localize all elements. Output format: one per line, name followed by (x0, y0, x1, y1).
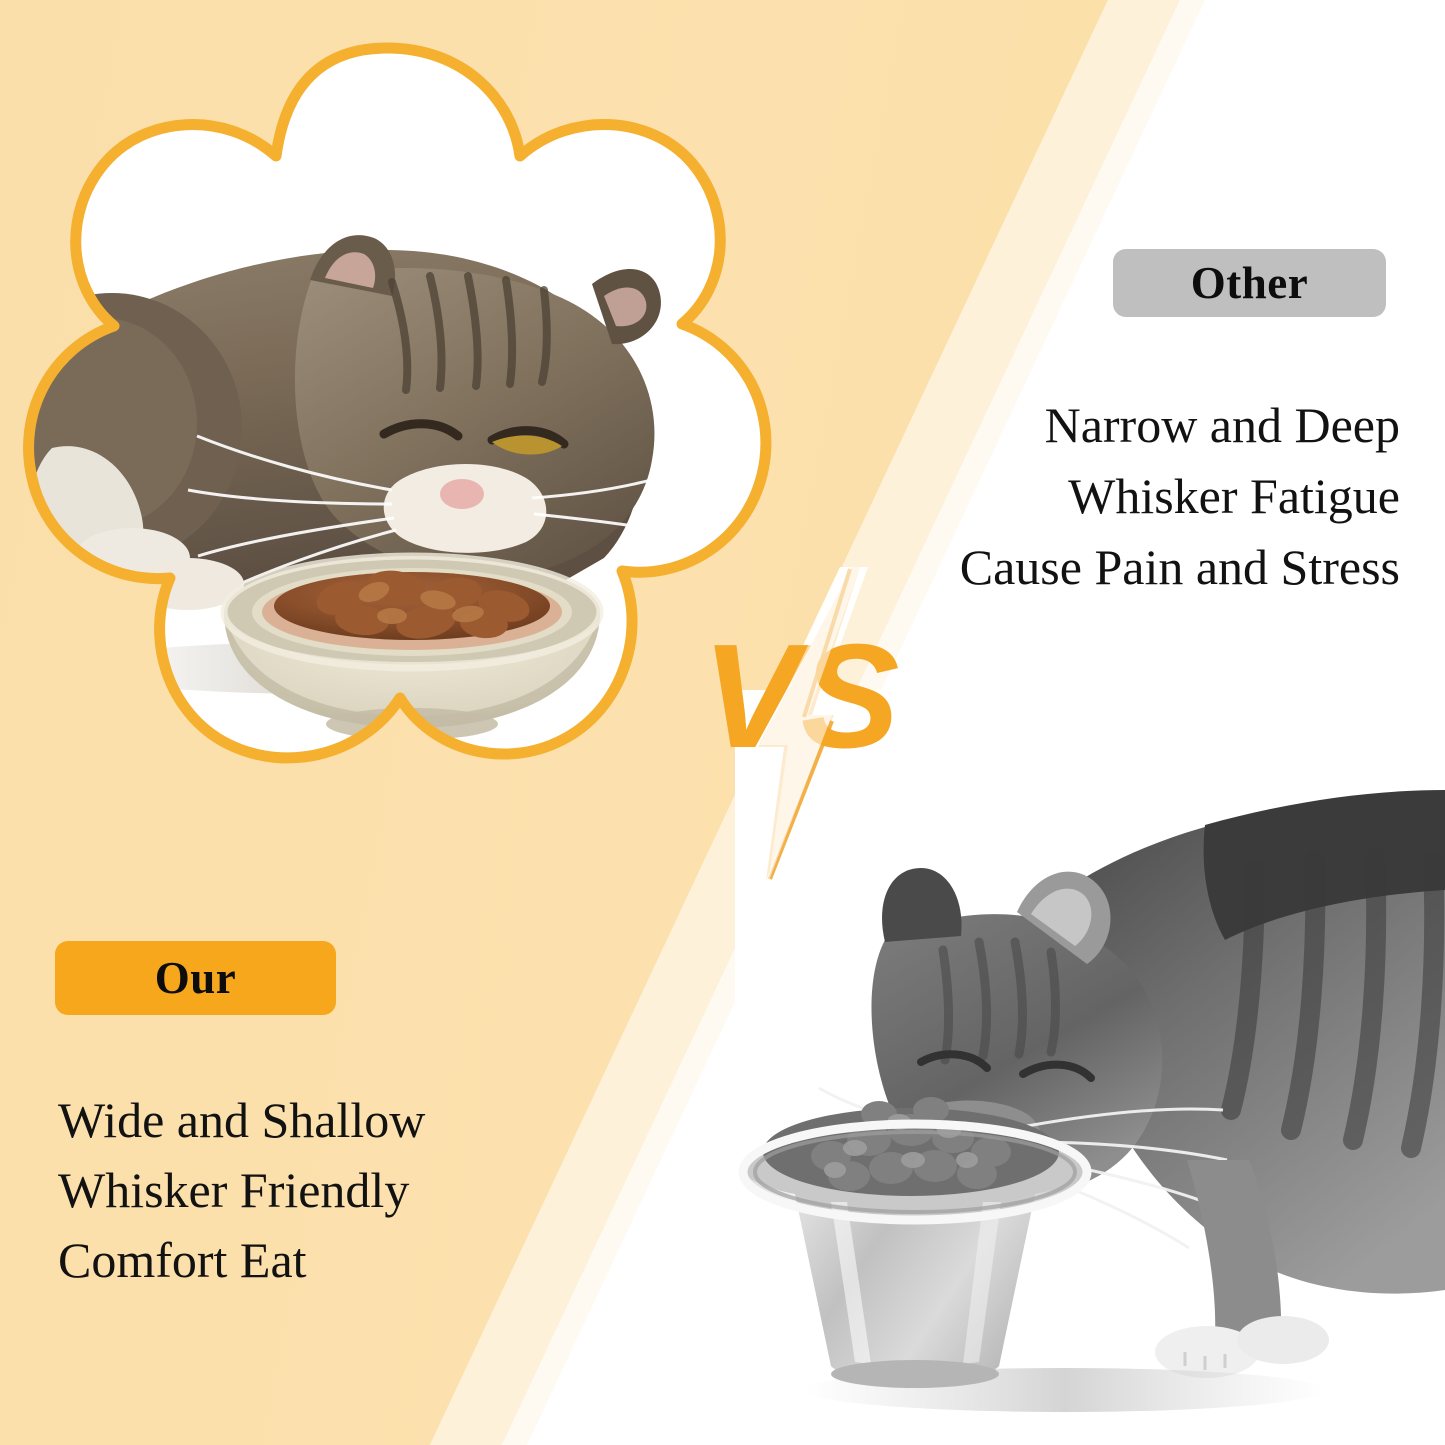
vs-divider: VS (700, 595, 930, 855)
our-badge-label: Our (155, 952, 237, 1004)
other-feature-3: Cause Pain and Stress (960, 532, 1400, 603)
comparison-infographic: VS Other Our Narrow and Deep Whisker Fat… (0, 0, 1445, 1445)
other-badge-label: Other (1191, 257, 1308, 309)
our-photo-flower-frame (0, 28, 782, 838)
other-feature-1: Narrow and Deep (960, 390, 1400, 461)
our-badge: Our (55, 941, 336, 1015)
other-feature-list: Narrow and Deep Whisker Fatigue Cause Pa… (960, 390, 1400, 603)
our-feature-3: Comfort Eat (58, 1225, 425, 1295)
our-feature-2: Whisker Friendly (58, 1155, 425, 1225)
our-feature-list: Wide and Shallow Whisker Friendly Comfor… (58, 1085, 425, 1295)
other-badge: Other (1113, 249, 1386, 317)
our-feature-1: Wide and Shallow (58, 1085, 425, 1155)
other-feature-2: Whisker Fatigue (960, 461, 1400, 532)
